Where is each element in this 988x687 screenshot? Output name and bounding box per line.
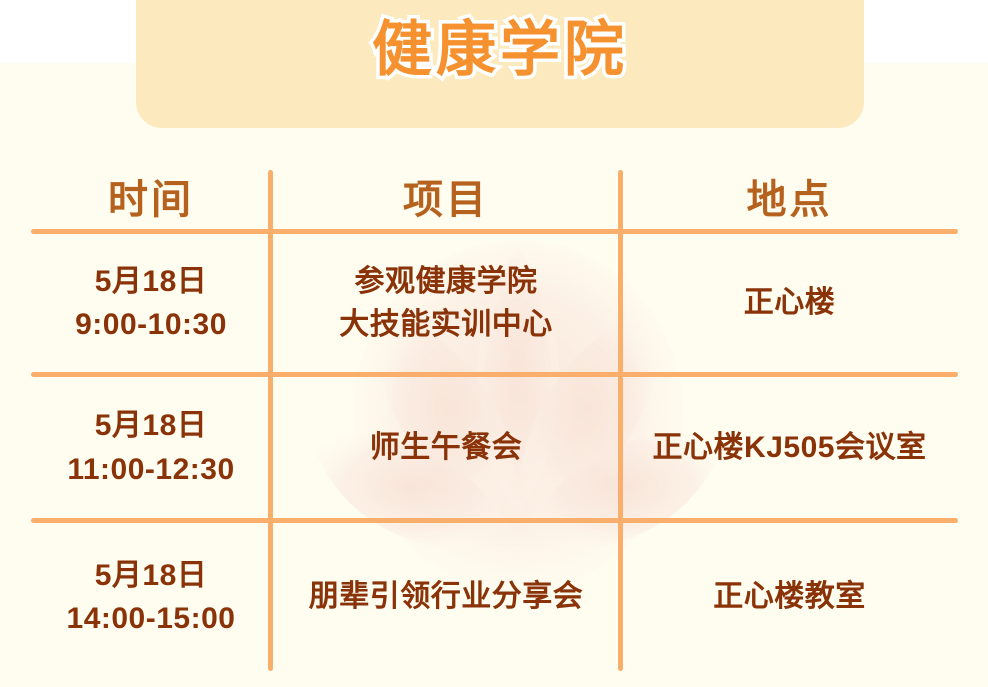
poster-canvas: 健康学院 时间 项目 地点 5月18日 9:00-10:30 参观健康学院	[0, 0, 988, 687]
cell-time-range: 14:00-15:00	[67, 597, 236, 641]
table-row: 5月18日 11:00-12:30 师生午餐会 正心楼KJ505会议室	[31, 377, 958, 518]
cell-date: 5月18日	[67, 404, 234, 448]
cell-item-line2: 大技能实训中心	[339, 303, 553, 347]
cell-date: 5月18日	[75, 260, 227, 304]
cell-date: 5月18日	[67, 554, 236, 598]
cell-place: 正心楼	[621, 234, 958, 372]
cell-item: 师生午餐会	[271, 377, 621, 518]
table-row: 5月18日 9:00-10:30 参观健康学院 大技能实训中心 正心楼	[31, 234, 958, 372]
cell-item: 参观健康学院 大技能实训中心	[271, 234, 621, 372]
schedule-table: 时间 项目 地点 5月18日 9:00-10:30 参观健康学院 大技能实训中心…	[31, 140, 958, 671]
column-header-time: 时间	[31, 140, 271, 229]
cell-time-range: 11:00-12:30	[67, 448, 234, 492]
column-header-item: 项目	[271, 140, 621, 229]
cell-place: 正心楼KJ505会议室	[621, 377, 958, 518]
cell-time-range: 9:00-10:30	[75, 303, 227, 347]
table-row: 5月18日 14:00-15:00 朋辈引领行业分享会 正心楼教室	[31, 523, 958, 671]
cell-item: 朋辈引领行业分享会	[271, 523, 621, 671]
cell-time: 5月18日 9:00-10:30	[31, 234, 271, 372]
table-header-row: 时间 项目 地点	[31, 140, 958, 229]
cell-item-line1: 参观健康学院	[339, 260, 553, 304]
page-title: 健康学院	[136, 20, 864, 80]
cell-place: 正心楼教室	[621, 523, 958, 671]
cell-time: 5月18日 14:00-15:00	[31, 523, 271, 671]
column-header-place: 地点	[621, 140, 958, 229]
cell-time: 5月18日 11:00-12:30	[31, 377, 271, 518]
title-banner: 健康学院	[136, 0, 864, 128]
